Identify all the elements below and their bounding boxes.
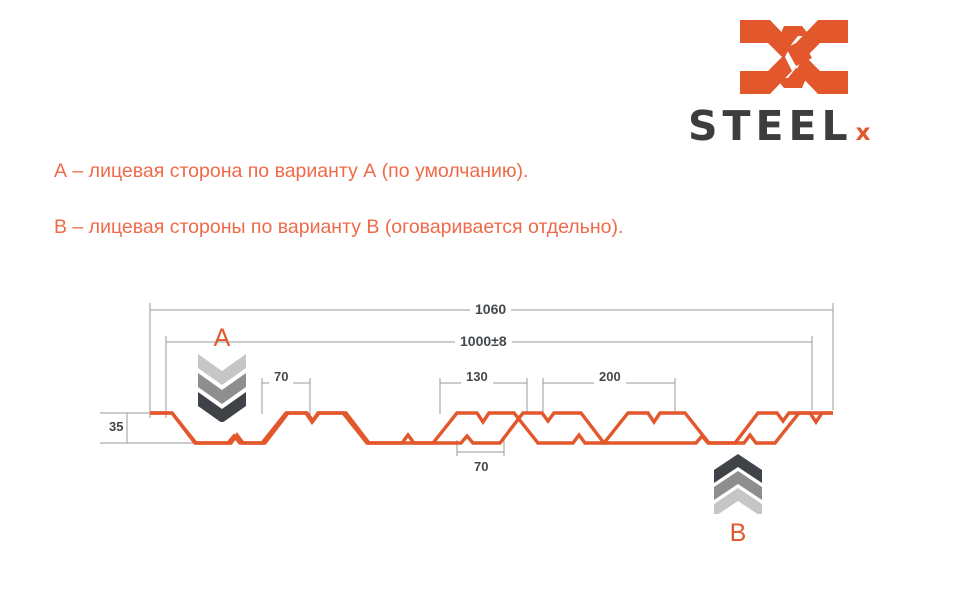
profile-technical-drawing [0,0,970,597]
marker-a-letter: А [196,326,248,351]
dim-label-1000: 1000±8 [455,333,512,349]
marker-b-letter: В [712,521,764,546]
dim-label-70-top: 70 [269,369,293,384]
chevrons-up-icon [712,452,764,514]
dim-label-200: 200 [594,369,626,384]
dim-label-130: 130 [461,369,493,384]
chevrons-down-icon [196,352,248,422]
dim-label-35-height: 35 [104,419,128,434]
sheet-profile-line-detailed [150,413,833,443]
marker-variant-a: А [196,326,248,420]
drawing-page: STEEL x А – лицевая сторона по варианту … [0,0,970,597]
marker-variant-b: В [712,452,764,542]
dim-label-1060: 1060 [470,301,511,317]
dim-label-70-valley: 70 [469,459,493,474]
sheet-profile-line [150,413,833,443]
